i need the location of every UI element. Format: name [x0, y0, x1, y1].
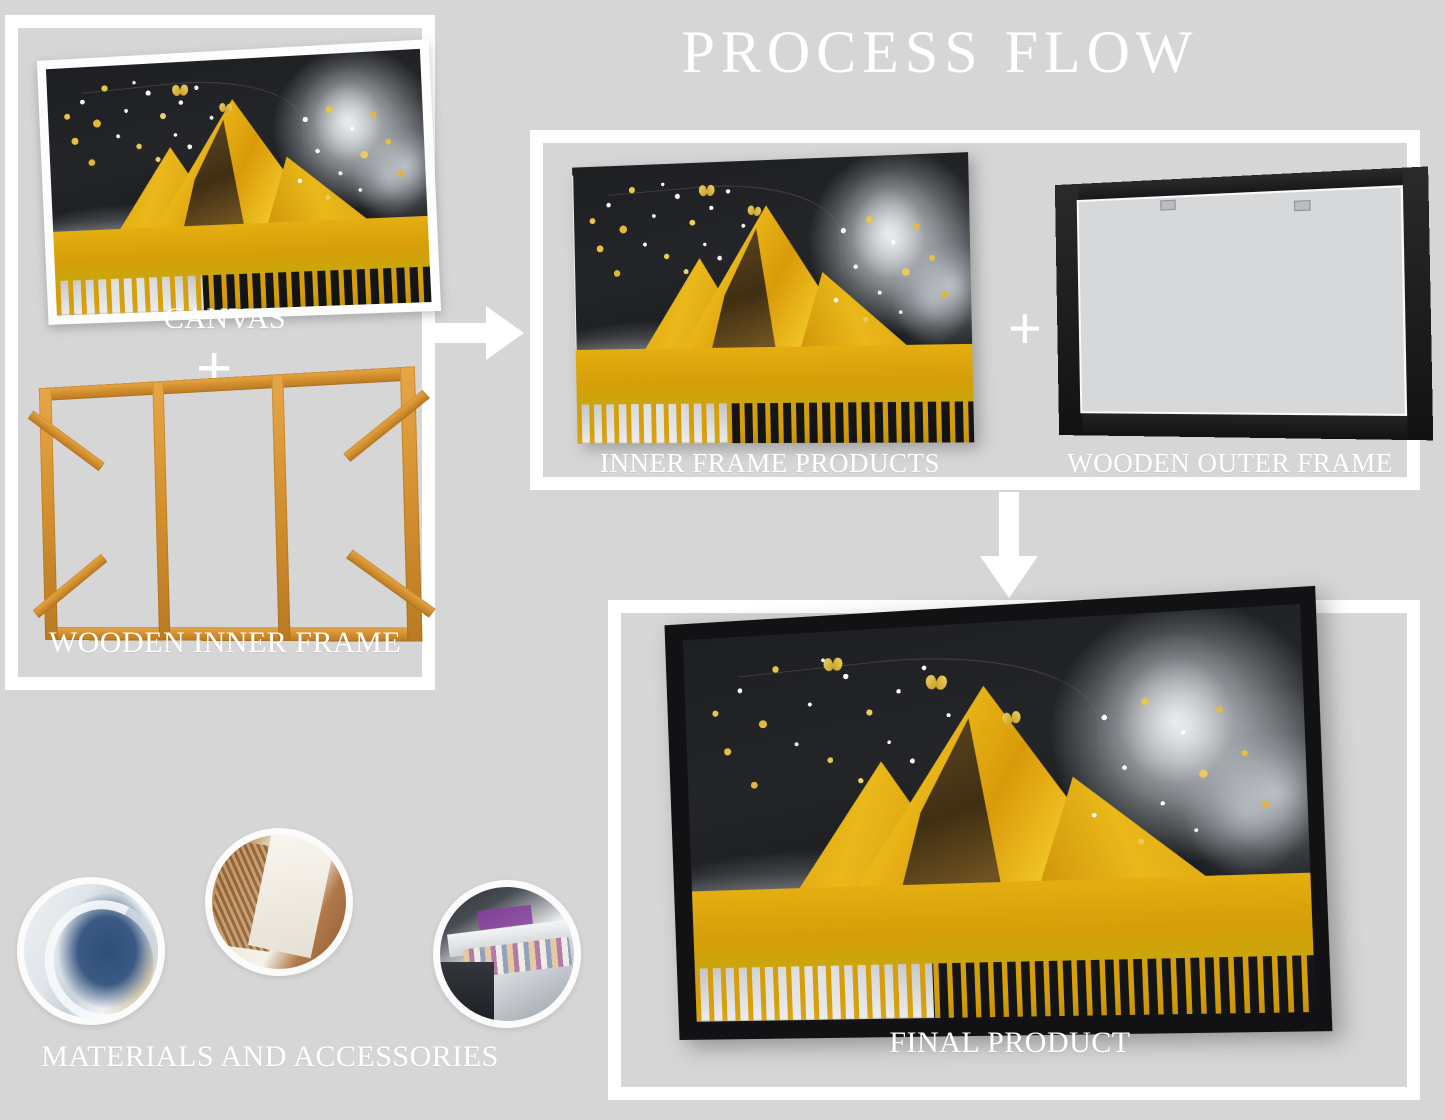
plus-sign-between-frames: + [1008, 300, 1042, 358]
arrow-down-icon [980, 492, 1038, 598]
butterfly-icon [219, 102, 233, 112]
artwork-gold-spray-right [277, 85, 421, 237]
canvas-roll-swirl [29, 885, 165, 1025]
material-circle-printer [433, 880, 581, 1028]
butterfly-icon [172, 84, 188, 96]
butterfly-icon [925, 674, 947, 689]
label-wooden-inner-frame: WOODEN INNER FRAME [35, 628, 415, 658]
stretcher-crossbar-1 [152, 381, 170, 641]
hanging-clip-icon [1160, 200, 1176, 211]
material-circle-canvas-roll [17, 877, 165, 1025]
label-inner-frame-products: INNER FRAME PRODUCTS [560, 450, 980, 477]
material-circle-packing [205, 828, 353, 976]
outer-frame-opening [1077, 185, 1407, 416]
page-title: PROCESS FLOW [560, 18, 1320, 87]
arrow-right-icon [428, 306, 524, 360]
wooden-inner-frame-image [39, 366, 423, 642]
hanging-clip-icon [1294, 200, 1311, 211]
butterfly-icon [699, 185, 715, 196]
butterfly-icon [823, 657, 842, 671]
label-materials-and-accessories: MATERIALS AND ACCESSORIES [25, 1042, 515, 1072]
stretcher-crossbar-2 [272, 374, 291, 641]
inner-frame-product-image [572, 152, 974, 443]
final-product-image [664, 586, 1332, 1040]
label-wooden-outer-frame: WOODEN OUTER FRAME [1040, 450, 1420, 477]
label-final-product: FINAL PRODUCT [810, 1028, 1210, 1058]
process-flow-infographic: PROCESS FLOW CANVAS + WOODEN INNER FRAME [0, 0, 1445, 1120]
artwork-gold-spray-right [1058, 662, 1298, 905]
outer-frame-right [1403, 166, 1434, 440]
final-artwork [683, 604, 1316, 1022]
artwork-gold-spray-left [695, 633, 1077, 868]
canvas-artwork-image [37, 39, 441, 325]
label-canvas: CANVAS [35, 304, 415, 334]
printer-body [440, 962, 494, 1021]
artwork-gold-spray-right [814, 193, 965, 363]
wooden-outer-frame-image [1055, 166, 1433, 440]
